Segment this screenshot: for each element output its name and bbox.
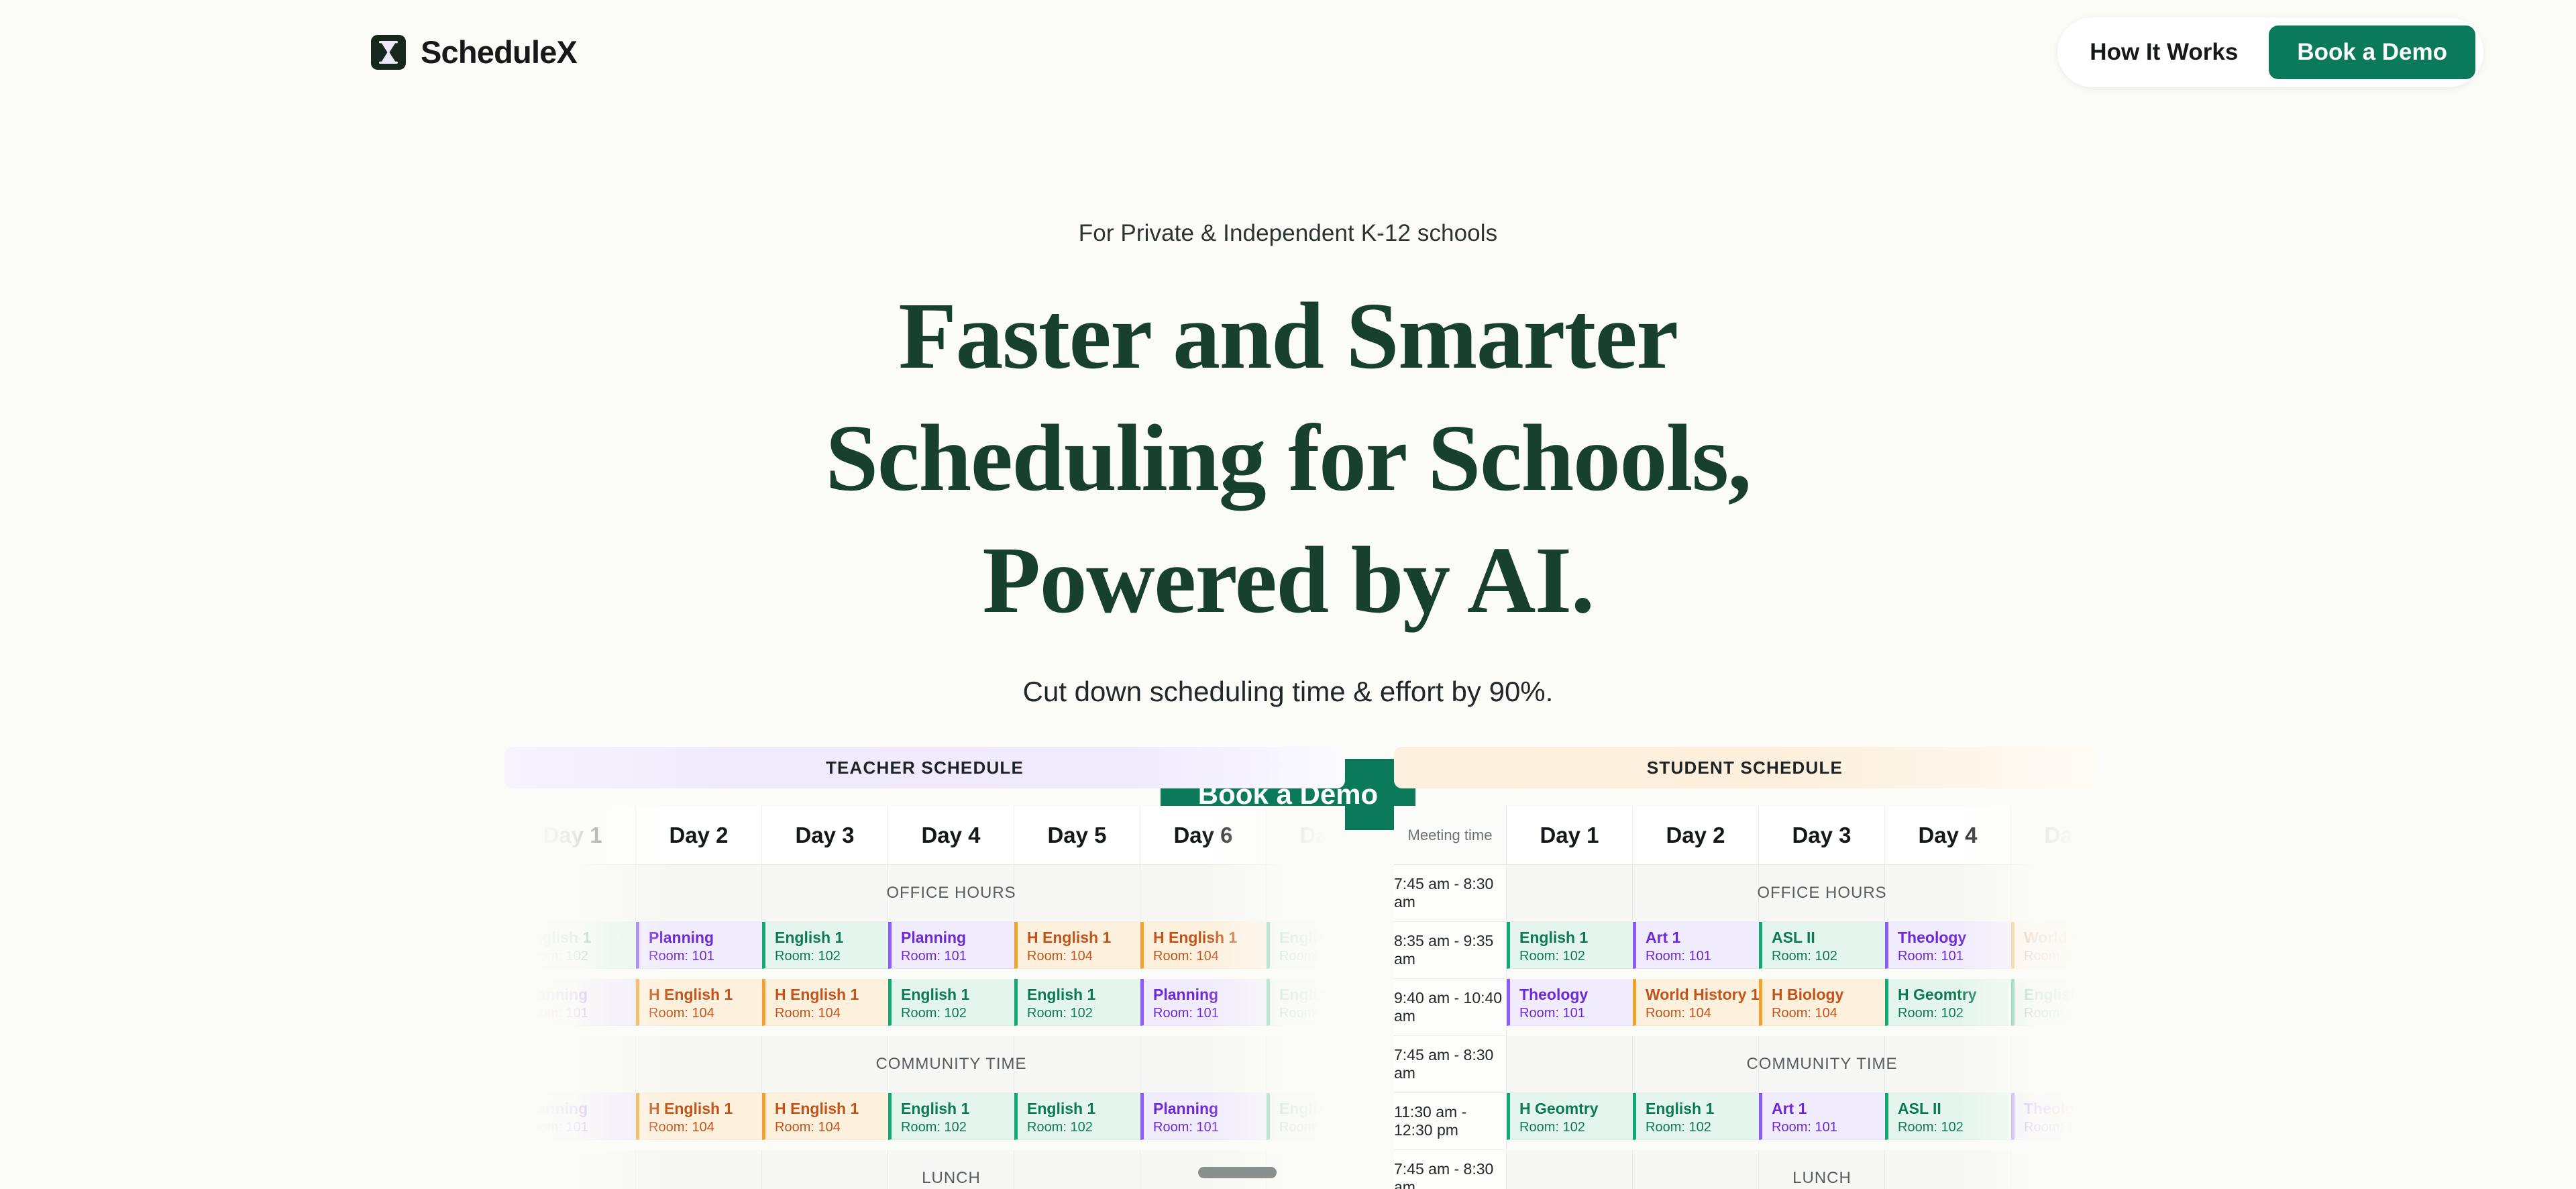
teacher-day-header[interactable]: Day 4 (888, 806, 1014, 865)
class-name: English 1 (1646, 1099, 1759, 1119)
class-cell[interactable]: H English 1Room: 104 (762, 979, 888, 1026)
teacher-corner-cell (504, 806, 510, 865)
class-cell[interactable]: English 1Room: 102 (1267, 1093, 1345, 1140)
class-name: ASL II (1898, 1099, 2011, 1119)
class-name: Art 1 (1772, 1099, 1885, 1119)
class-name: H English 1 (649, 985, 762, 1004)
class-cell[interactable]: H English 1Room: 104 (636, 979, 762, 1026)
class-name: English 1 (1279, 1099, 1345, 1119)
teacher-band-time (504, 1150, 510, 1189)
class-name: English 1 (1279, 985, 1345, 1004)
class-name: H English 1 (649, 1099, 762, 1119)
class-room: Room: 101 (1772, 1119, 1885, 1137)
class-room: Room: 101 (523, 1004, 636, 1023)
header-actions: How It Works Book a Demo (2057, 17, 2483, 87)
class-cell[interactable]: H English 1Room: 104 (1014, 922, 1140, 969)
class-room: Room: 102 (901, 1119, 1014, 1137)
schedule-band-row: COMMUNITY TIME (510, 1036, 1345, 1093)
hero-title-line-3: Powered by AI. (0, 519, 2576, 641)
class-cell[interactable]: English 1Room: 102 (510, 922, 636, 969)
class-room: Room: 101 (1519, 1004, 1633, 1023)
class-room: Room: 104 (649, 1119, 762, 1137)
class-room: Room: 102 (523, 947, 636, 966)
class-cell[interactable]: English 1Room: 102 (1633, 1093, 1759, 1140)
teacher-schedule-title: TEACHER SCHEDULE (504, 747, 1345, 788)
student-schedule-title: STUDENT SCHEDULE (1394, 747, 2096, 788)
class-name: World History 1 (2024, 928, 2096, 947)
class-name: ASL II (1772, 928, 1885, 947)
hero-title: Faster and Smarter Scheduling for School… (0, 275, 2576, 641)
class-cell[interactable]: ASL IIRoom: 102 (1759, 922, 1885, 969)
class-name: English 1 (775, 928, 888, 947)
class-room: Room: 102 (1519, 947, 1633, 966)
student-row-time: 11:30 am - 12:30 pm (1394, 1093, 1507, 1150)
class-cell[interactable]: H English 1Room: 104 (762, 1093, 888, 1140)
class-cell[interactable]: PlanningRoom: 101 (888, 922, 1014, 969)
hourglass-icon (371, 35, 406, 70)
class-cell[interactable]: World History 1Room: 104 (1633, 979, 1759, 1026)
class-room: Room: 102 (1898, 1004, 2011, 1023)
class-room: Room: 104 (775, 1119, 888, 1137)
hero-subtitle: Cut down scheduling time & effort by 90%… (0, 676, 2576, 708)
class-room: Room: 104 (1153, 947, 1267, 966)
student-day-header[interactable]: Day 2 (1633, 806, 1759, 865)
class-room: Room: 101 (901, 947, 1014, 966)
class-room: Room: 102 (775, 947, 888, 966)
class-cell[interactable]: PlanningRoom: 101 (510, 1093, 636, 1140)
class-cell[interactable]: H English 1Room: 104 (636, 1093, 762, 1140)
class-room: Room: 104 (649, 1004, 762, 1023)
class-name: Planning (523, 985, 636, 1004)
brand-name: ScheduleX (421, 34, 577, 70)
band-label: LUNCH (922, 1169, 981, 1188)
class-cell[interactable]: PlanningRoom: 101 (1140, 1093, 1267, 1140)
class-name: H English 1 (775, 1099, 888, 1119)
class-name: Theology (2024, 1099, 2096, 1119)
student-band-time: 7:45 am - 8:30 am (1394, 1150, 1507, 1189)
header-book-demo-button[interactable]: Book a Demo (2269, 25, 2475, 79)
class-name: Theology (1519, 985, 1633, 1004)
class-room: Room: 104 (1772, 1004, 1885, 1023)
class-name: Planning (649, 928, 762, 947)
class-cell[interactable]: H GeomtryRoom: 102 (1507, 1093, 1633, 1140)
nav-how-it-works[interactable]: How It Works (2072, 30, 2262, 75)
student-row-time: 9:40 am - 10:40 am (1394, 979, 1507, 1036)
class-name: Theology (1898, 928, 2011, 947)
schedule-band-row: LUNCH (1507, 1150, 2096, 1189)
schedule-band-row: OFFICE HOURS (510, 865, 1345, 922)
class-name: H Biology (1772, 985, 1885, 1004)
class-room: Room: 101 (523, 1119, 636, 1137)
class-name: H English 1 (1153, 928, 1267, 947)
class-name: English 1 (2024, 985, 2096, 1004)
class-room: Room: 102 (1772, 947, 1885, 966)
class-cell[interactable]: English 1Room: 102 (888, 1093, 1014, 1140)
teacher-day-header[interactable]: Day 6 (1140, 806, 1267, 865)
teacher-grid-wrap[interactable]: Day 1Day 2Day 3Day 4Day 5Day 6Day 7OFFIC… (504, 806, 1345, 1189)
teacher-row-time (504, 922, 510, 979)
class-room: Room: 101 (649, 947, 762, 966)
class-name: H Geomtry (1519, 1099, 1633, 1119)
schedule-band-row: OFFICE HOURS (1507, 865, 2096, 922)
class-name: Art 1 (1646, 928, 1759, 947)
student-meeting-time-header: Meeting time (1394, 806, 1507, 865)
class-room: Room: 102 (1646, 1119, 1759, 1137)
schedules-section: TEACHER SCHEDULE Day 1Day 2Day 3Day 4Day… (0, 747, 2576, 1189)
class-cell[interactable]: Art 1Room: 101 (1759, 1093, 1885, 1140)
class-name: English 1 (1027, 1099, 1140, 1119)
class-room: Room: 101 (1153, 1004, 1267, 1023)
class-cell[interactable]: PlanningRoom: 101 (636, 922, 762, 969)
class-cell[interactable]: English 1Room: 102 (2011, 979, 2096, 1026)
class-name: English 1 (1279, 928, 1345, 947)
class-room: Room: 101 (2024, 1119, 2096, 1137)
class-room: Room: 102 (1279, 1119, 1345, 1137)
student-band-time: 7:45 am - 8:30 am (1394, 1036, 1507, 1093)
class-name: Planning (1153, 985, 1267, 1004)
teacher-day-header[interactable]: Day 7 (1267, 806, 1345, 865)
teacher-row-time (504, 979, 510, 1036)
student-day-header[interactable]: Day 1 (1507, 806, 1633, 865)
teacher-grid: Day 1Day 2Day 3Day 4Day 5Day 6Day 7OFFIC… (504, 806, 1345, 1189)
class-room: Room: 104 (775, 1004, 888, 1023)
class-room: Room: 104 (1027, 947, 1140, 966)
class-name: H English 1 (775, 985, 888, 1004)
schedule-band-row: COMMUNITY TIME (1507, 1036, 2096, 1093)
class-name: Planning (1153, 1099, 1267, 1119)
class-cell[interactable]: English 1Room: 102 (1014, 1093, 1140, 1140)
teacher-schedule-panel: TEACHER SCHEDULE Day 1Day 2Day 3Day 4Day… (504, 747, 1345, 1189)
band-label: COMMUNITY TIME (875, 1055, 1026, 1074)
teacher-day-header[interactable]: Day 2 (636, 806, 762, 865)
class-room: Room: 102 (1279, 947, 1345, 966)
class-cell[interactable]: English 1Room: 102 (1507, 922, 1633, 969)
class-name: English 1 (901, 985, 1014, 1004)
nav-pill: How It Works Book a Demo (2057, 17, 2483, 87)
student-day-header[interactable]: Day 5 (2011, 806, 2096, 865)
band-label: COMMUNITY TIME (1746, 1055, 1897, 1074)
class-cell[interactable]: H BiologyRoom: 104 (1759, 979, 1885, 1026)
class-room: Room: 101 (1898, 947, 2011, 966)
class-room: Room: 101 (1153, 1119, 1267, 1137)
hero-eyebrow: For Private & Independent K-12 schools (0, 220, 2576, 247)
student-schedule-panel: STUDENT SCHEDULE Meeting timeDay 1Day 2D… (1394, 747, 2096, 1189)
class-name: English 1 (1027, 985, 1140, 1004)
class-name: Planning (523, 1099, 636, 1119)
class-cell[interactable]: World History 1Room: 104 (2011, 922, 2096, 969)
class-cell[interactable]: English 1Room: 102 (888, 979, 1014, 1026)
class-room: Room: 101 (1646, 947, 1759, 966)
site-header: ScheduleX How It Works Book a Demo (0, 0, 2576, 104)
class-room: Room: 102 (1279, 1004, 1345, 1023)
teacher-day-header[interactable]: Day 3 (762, 806, 888, 865)
class-room: Room: 102 (1898, 1119, 2011, 1137)
class-cell[interactable]: Art 1Room: 101 (1633, 922, 1759, 969)
student-day-header[interactable]: Day 3 (1759, 806, 1885, 865)
student-row-time: 8:35 am - 9:35 am (1394, 922, 1507, 979)
student-grid: Meeting timeDay 1Day 2Day 3Day 4Day 57:4… (1394, 806, 2096, 1189)
hero-section: For Private & Independent K-12 schools F… (0, 104, 2576, 830)
teacher-band-time (504, 1036, 510, 1093)
class-room: Room: 104 (1646, 1004, 1759, 1023)
class-cell[interactable]: English 1Room: 102 (1267, 979, 1345, 1026)
class-name: English 1 (523, 928, 636, 947)
class-room: Room: 102 (2024, 1004, 2096, 1023)
teacher-day-header[interactable]: Day 1 (510, 806, 636, 865)
band-label: LUNCH (1792, 1169, 1851, 1188)
teacher-band-time (504, 865, 510, 922)
class-cell[interactable]: PlanningRoom: 101 (510, 979, 636, 1026)
class-cell[interactable]: TheologyRoom: 101 (1507, 979, 1633, 1026)
class-cell[interactable]: TheologyRoom: 101 (1885, 922, 2011, 969)
class-cell[interactable]: TheologyRoom: 101 (2011, 1093, 2096, 1140)
class-cell[interactable]: English 1Room: 102 (762, 922, 888, 969)
class-cell[interactable]: H GeomtryRoom: 102 (1885, 979, 2011, 1026)
class-cell[interactable]: H English 1Room: 104 (1140, 922, 1267, 969)
band-label: OFFICE HOURS (1757, 884, 1886, 902)
class-room: Room: 104 (2024, 947, 2096, 966)
class-room: Room: 102 (901, 1004, 1014, 1023)
class-name: English 1 (901, 1099, 1014, 1119)
class-cell[interactable]: English 1Room: 102 (1014, 979, 1140, 1026)
student-grid-wrap[interactable]: Meeting timeDay 1Day 2Day 3Day 4Day 57:4… (1394, 806, 2096, 1189)
student-band-time: 7:45 am - 8:30 am (1394, 865, 1507, 922)
class-name: World History 1 (1646, 985, 1759, 1004)
student-day-header[interactable]: Day 4 (1885, 806, 2011, 865)
class-room: Room: 102 (1519, 1119, 1633, 1137)
class-name: English 1 (1519, 928, 1633, 947)
class-room: Room: 102 (1027, 1004, 1140, 1023)
class-name: Planning (901, 928, 1014, 947)
hero-title-line-2: Scheduling for Schools, (0, 397, 2576, 519)
band-label: OFFICE HOURS (886, 884, 1016, 902)
brand-logo[interactable]: ScheduleX (371, 34, 577, 70)
class-name: H Geomtry (1898, 985, 2011, 1004)
teacher-horizontal-scrollbar[interactable] (1198, 1167, 1277, 1178)
class-name: H English 1 (1027, 928, 1140, 947)
teacher-day-header[interactable]: Day 5 (1014, 806, 1140, 865)
class-room: Room: 102 (1027, 1119, 1140, 1137)
class-cell[interactable]: PlanningRoom: 101 (1140, 979, 1267, 1026)
class-cell[interactable]: English 1Room: 102 (1267, 922, 1345, 969)
hero-title-line-1: Faster and Smarter (0, 275, 2576, 397)
class-cell[interactable]: ASL IIRoom: 102 (1885, 1093, 2011, 1140)
teacher-row-time (504, 1093, 510, 1150)
